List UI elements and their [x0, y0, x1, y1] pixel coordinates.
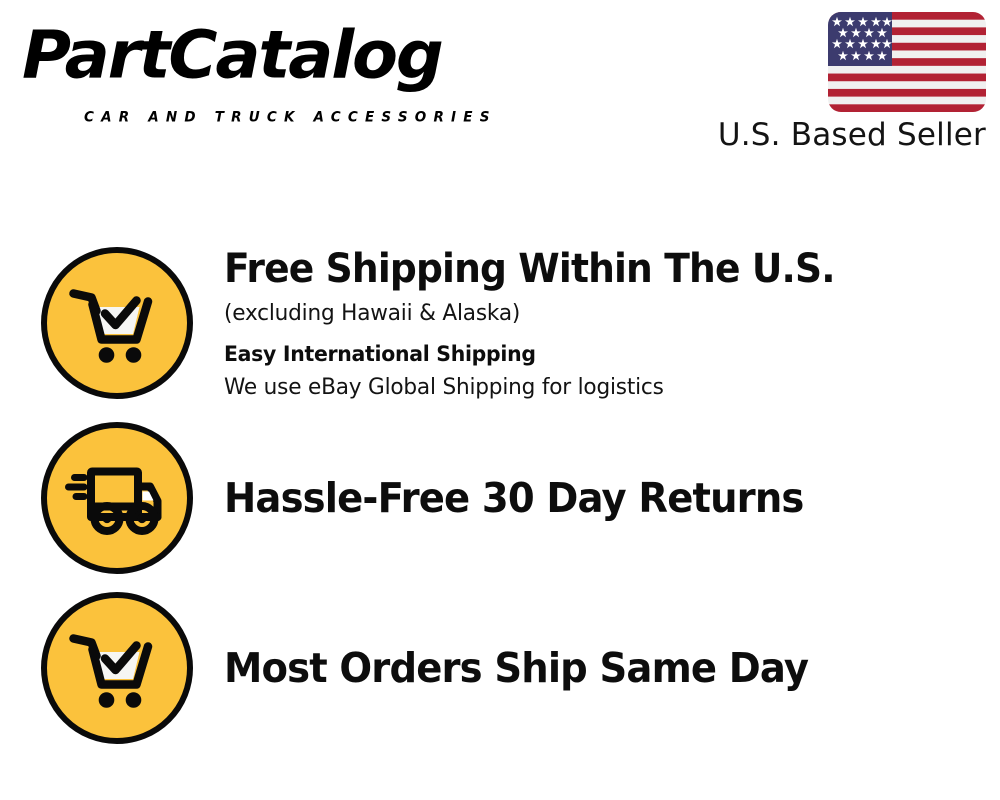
page-header: PartCatalog CAR AND TRUCK ACCESSORIES: [0, 0, 1000, 170]
feature-row: Most Orders Ship Same Day: [0, 590, 1000, 746]
us-flag-badge: [828, 12, 986, 112]
feature-text-block: Hassle-Free 30 Day Returns: [224, 472, 1000, 524]
feature-row: Free Shipping Within The U.S. (excluding…: [0, 245, 1000, 401]
us-flag-icon: [828, 12, 986, 112]
feature-title: Free Shipping Within The U.S.: [224, 244, 935, 294]
feature-row: Hassle-Free 30 Day Returns: [0, 420, 1000, 576]
shopping-cart-check-icon-badge: [41, 247, 193, 399]
brand-wordmark: PartCatalog: [22, 18, 442, 92]
feature-title: Hassle-Free 30 Day Returns: [224, 472, 935, 524]
delivery-truck-icon: [64, 445, 170, 551]
feature-text-block: Most Orders Ship Same Day: [224, 642, 1000, 694]
shopping-cart-check-icon: [65, 616, 169, 720]
delivery-truck-icon-badge: [41, 422, 193, 574]
feature-subtitle: (excluding Hawaii & Alaska): [224, 297, 950, 329]
shopping-cart-check-icon-badge: [41, 592, 193, 744]
feature-subtitle-last: We use eBay Global Shipping for logistic…: [224, 371, 950, 403]
shopping-cart-check-icon: [65, 271, 169, 375]
us-based-seller-label: U.S. Based Seller: [718, 116, 986, 154]
feature-title: Most Orders Ship Same Day: [224, 642, 935, 694]
brand-tagline: CAR AND TRUCK ACCESSORIES: [84, 108, 497, 126]
partcatalog-logo[interactable]: PartCatalog CAR AND TRUCK ACCESSORIES: [22, 18, 492, 118]
feature-subtitle-strong: Easy International Shipping: [224, 340, 942, 370]
feature-text-block: Free Shipping Within The U.S. (excluding…: [224, 244, 1000, 403]
